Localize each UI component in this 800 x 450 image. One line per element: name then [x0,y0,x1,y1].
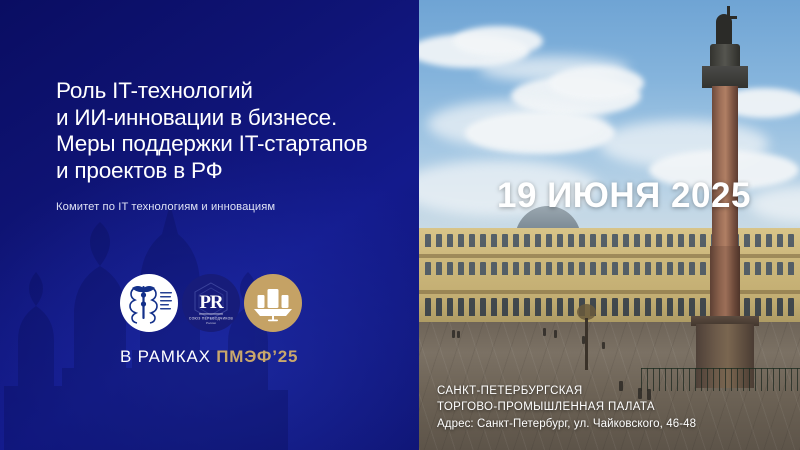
partners-highlight: ПМЭФ’25 [216,347,298,366]
person [602,342,605,349]
partner-logos-row: PR СОЮЗ ПЕРЕВОДЧИКОВ России [120,274,302,332]
partners-prefix: В РАМКАХ [120,347,211,366]
window-row [419,234,800,247]
svg-text:России: России [206,321,216,325]
person [457,331,460,338]
partners-framework-line: В РАМКАХ ПМЭФ’25 [120,347,298,367]
pr-union-logo: PR СОЮЗ ПЕРЕВОДЧИКОВ России [182,274,240,332]
cloud [465,112,615,154]
event-date: 19 ИЮНЯ 2025 [497,176,751,216]
organization-address: Адрес: Санкт-Петербург, ул. Чайковского,… [437,416,696,432]
spief-ship-logo [244,274,302,332]
alexander-column-shaft [712,86,738,246]
svg-text:СОЮЗ ПЕРЕВОДЧИКОВ: СОЮЗ ПЕРЕВОДЧИКОВ [189,317,234,321]
right-photo-panel: 19 ИЮНЯ 2025 САНКТ-ПЕТЕРБУРГСКАЯ ТОРГОВО… [419,0,800,450]
organization-line-2: ТОРГОВО-ПРОМЫШЛЕННАЯ ПАЛАТА [437,400,696,416]
event-subtitle: Комитет по IT технологиям и инновациям [56,200,406,215]
event-banner: Роль IT-технологий и ИИ-инновации в бизн… [0,0,800,450]
title-block: Роль IT-технологий и ИИ-инновации в бизн… [56,78,406,215]
left-info-panel: Роль IT-технологий и ИИ-инновации в бизн… [0,0,419,450]
person [543,328,546,336]
angel-statue [716,14,732,46]
window-row [419,262,800,275]
cloud [549,66,644,100]
palace-square-photo: 19 ИЮНЯ 2025 САНКТ-ПЕТЕРБУРГСКАЯ ТОРГОВО… [419,0,800,450]
chamber-of-commerce-logo [120,274,178,332]
event-title: Роль IT-технологий и ИИ-инновации в бизн… [56,78,406,184]
alexander-column-shaft-lower [710,246,740,326]
organization-line-1: САНКТ-ПЕТЕРБУРГСКАЯ [437,384,696,400]
person [554,330,557,338]
organization-block: САНКТ-ПЕТЕРБУРГСКАЯ ТОРГОВО-ПРОМЫШЛЕННАЯ… [437,384,696,432]
lamp-post [585,318,588,370]
general-staff-building [419,228,800,328]
person [452,330,455,338]
window-row [419,298,800,316]
person [582,336,585,344]
cloud [453,26,543,56]
svg-text:PR: PR [199,292,224,313]
column-drum [710,44,740,68]
column-capital [702,66,748,88]
